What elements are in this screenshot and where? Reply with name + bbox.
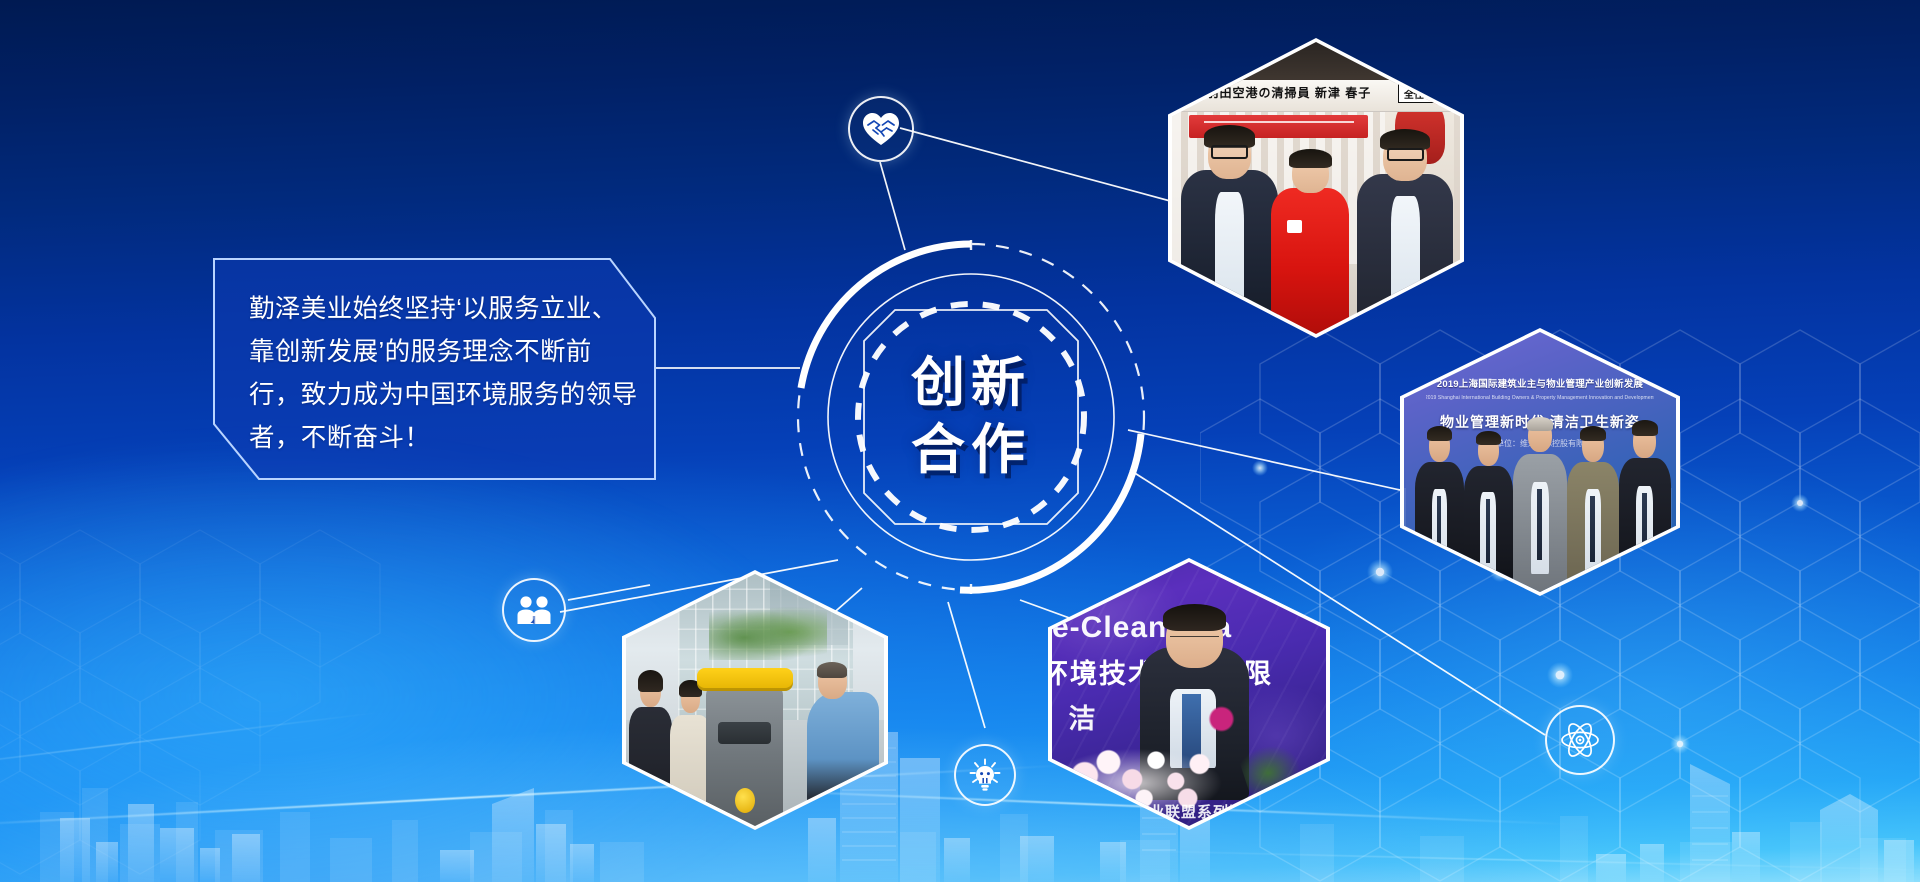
hub-rings (792, 238, 1150, 596)
photo-sign-top: 羽田空港の清掃員 新津 春子 (1207, 84, 1372, 101)
heart-handshake-icon (862, 112, 900, 146)
icon-node-atom-technology[interactable] (1545, 705, 1615, 775)
conference-banner-subtitle: 2019 Shanghai International Building Own… (1426, 392, 1654, 405)
lightbulb-idea-icon (968, 758, 1002, 792)
hero-banner: 勤泽美业始终坚持‘以服务立业、 靠创新发展’的服务理念不断前 行，致力成为中国环… (0, 0, 1920, 882)
photo-equipment-demo[interactable] (622, 570, 888, 830)
conference-banner-title: 2019上海国际建筑业主与物业管理产业创新发展 (1426, 374, 1654, 392)
photo-scene (626, 574, 884, 826)
hex-clip: e-Clean&Qa 环境技术服务有限 洁 服务业联盟系列活动 (1052, 562, 1326, 826)
icon-node-people-partnership[interactable] (502, 578, 566, 642)
people-partnership-icon (516, 595, 552, 625)
hex-clip (626, 574, 884, 826)
icon-node-lightbulb[interactable] (954, 744, 1016, 806)
photo-speaker-podium[interactable]: e-Clean&Qa 环境技术服务有限 洁 服务业联盟系列活动 (1048, 558, 1330, 830)
quote-text: 勤泽美业始终坚持‘以服务立业、 靠创新发展’的服务理念不断前 行，致力成为中国环… (249, 288, 649, 460)
icon-node-heart-handshake[interactable] (848, 96, 914, 162)
photo-scene: 2019上海国际建筑业主与物业管理产业创新发展 2019 Shanghai In… (1404, 332, 1676, 592)
photo-conference-group[interactable]: 2019上海国际建筑业主与物业管理产业创新发展 2019 Shanghai In… (1400, 328, 1680, 596)
atom-technology-icon (1560, 720, 1600, 760)
stage-backdrop-bottom: 服务业联盟系列活动 (1052, 800, 1326, 824)
quote-card: 勤泽美业始终坚持‘以服务立业、 靠创新发展’的服务理念不断前 行，致力成为中国环… (213, 258, 656, 480)
photo-scene: 羽田空港の清掃員 新津 春子 全仕事 (1172, 42, 1460, 334)
central-hub: 创新 合作 (792, 238, 1150, 596)
photo-bookstore-award[interactable]: 羽田空港の清掃員 新津 春子 全仕事 (1168, 38, 1464, 338)
photo-scene: e-Clean&Qa 环境技术服务有限 洁 服务业联盟系列活动 (1052, 562, 1326, 826)
hex-clip: 羽田空港の清掃員 新津 春子 全仕事 (1172, 42, 1460, 334)
hex-clip: 2019上海国际建筑业主与物业管理产业创新发展 2019 Shanghai In… (1404, 332, 1676, 592)
